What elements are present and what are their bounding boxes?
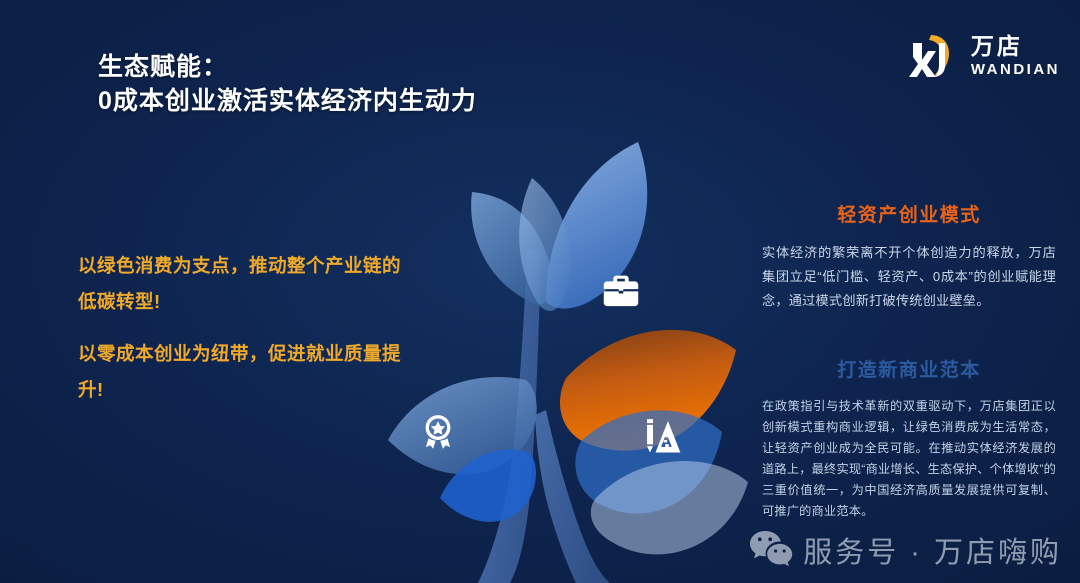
section-heading-new-business-model: 打造新商业范本 [762,355,1056,382]
logo-name-cn: 万店 [971,35,1060,58]
title-line-2: 0成本创业激活实体经济内生动力 [98,84,477,118]
growing-plant-illustration [370,110,750,583]
section-new-business-model: 打造新商业范本 在政策指引与技术革新的双重驱动下，万店集团正以创新模式重构商业逻… [762,355,1056,522]
logo-name-en: WANDIAN [971,62,1060,77]
highlight-paragraph-1: 以绿色消费为支点，推动整个产业链的低碳转型! [78,248,408,320]
brand-logo[interactable]: 万店 WANDIAN [909,32,1060,80]
highlight-paragraph-2: 以零成本创业为纽带，促进就业质量提升! [78,336,408,408]
section-body-new-business-model: 在政策指引与技术革新的双重驱动下，万店集团正以创新模式重构商业逻辑，让绿色消费成… [762,396,1056,522]
watermark-text: 服务号 · 万店嗨购 [803,529,1062,571]
award-badge-icon [417,412,459,459]
section-body-light-asset: 实体经济的繁荣离不开个体创造力的释放，万店集团立足“低门槛、轻资产、0成本”的创… [762,241,1056,313]
briefcase-icon [598,268,644,319]
wandian-w-d-mark-icon [909,32,963,80]
left-highlight-block: 以绿色消费为支点，推动整个产业链的低碳转型! 以零成本创业为纽带，促进就业质量提… [78,248,408,408]
title-line-1: 生态赋能： [98,50,477,84]
pencil-ruler-icon [639,413,685,464]
right-content-column: 轻资产创业模式 实体经济的繁荣离不开个体创造力的释放，万店集团立足“低门槛、轻资… [762,200,1056,522]
slide-canvas: 生态赋能： 0成本创业激活实体经济内生动力 万店 WANDIAN 以绿色消费为支… [0,0,1080,583]
wechat-bubble-icon [749,528,793,571]
wechat-watermark: 服务号 · 万店嗨购 [749,528,1062,571]
page-title: 生态赋能： 0成本创业激活实体经济内生动力 [98,50,477,118]
section-light-asset: 轻资产创业模式 实体经济的繁荣离不开个体创造力的释放，万店集团立足“低门槛、轻资… [762,200,1056,313]
section-heading-light-asset: 轻资产创业模式 [762,200,1056,227]
